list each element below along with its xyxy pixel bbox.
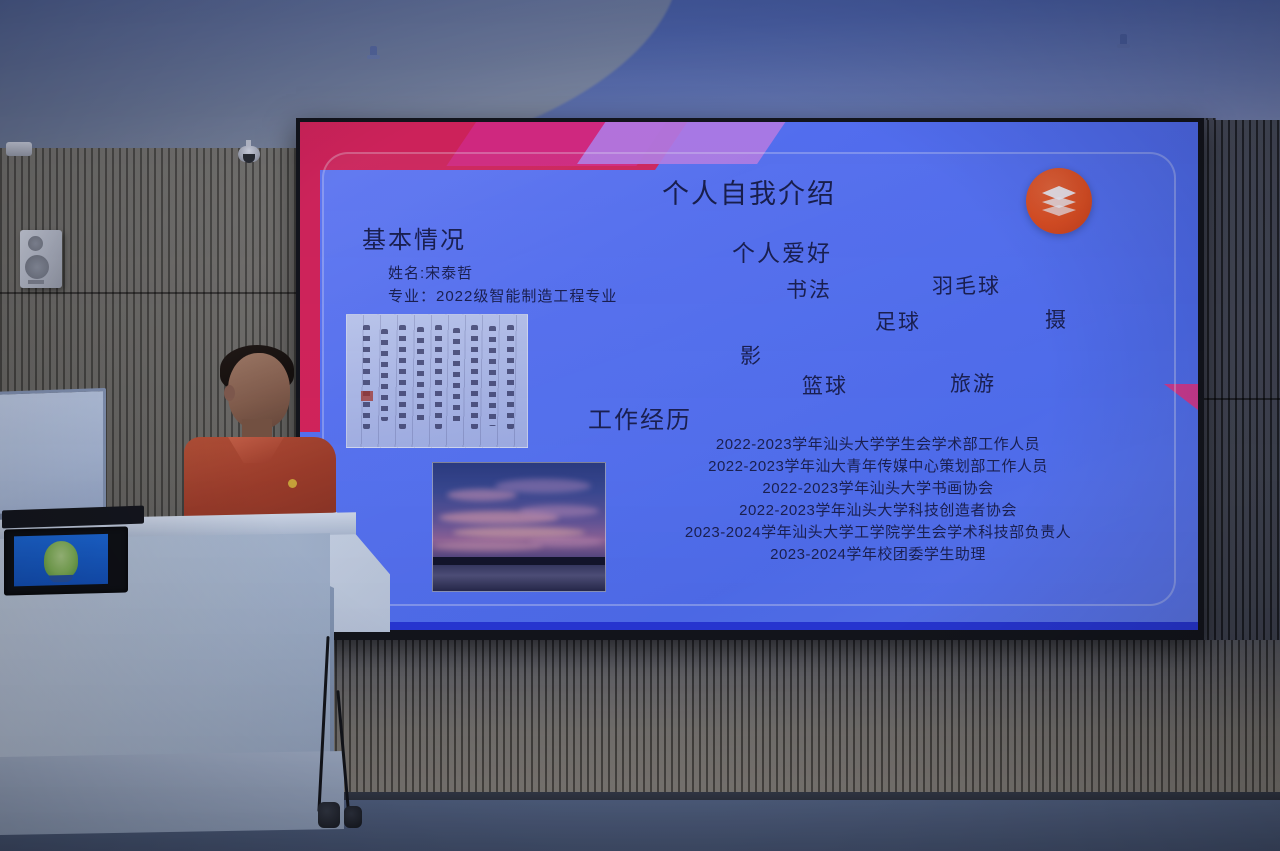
stacked-layers-logo-icon (1026, 168, 1092, 234)
work-item: 2022-2023学年汕大青年传媒中心策划部工作人员 (618, 456, 1138, 478)
water-reflection (433, 565, 605, 591)
work-item: 2023-2024学年汕头大学工学院学生会学术科技部负责人 (618, 522, 1138, 544)
calligraphy-seal (361, 391, 373, 401)
wall-speaker-icon (20, 230, 62, 288)
presentation-slide: 个人自我介绍 基本情况 姓名:宋泰哲 专业：2022级智能制造工程专业 个人爱好… (300, 122, 1198, 622)
section-heading-basic: 基本情况 (362, 220, 466, 255)
work-item: 2022-2023学年汕头大学学生会学术部工作人员 (618, 434, 1138, 456)
lectern (0, 516, 392, 816)
projection-screen: 个人自我介绍 基本情况 姓名:宋泰哲 专业：2022级智能制造工程专业 个人爱好… (300, 122, 1198, 630)
speaker-tweeter (28, 236, 43, 251)
projection-screen-frame: 个人自我介绍 基本情况 姓名:宋泰哲 专业：2022级智能制造工程专业 个人爱好… (296, 118, 1204, 640)
speaker-woofer (25, 255, 49, 279)
sprinkler-icon (370, 46, 377, 58)
hobby-item: 影 (740, 340, 763, 370)
sunset-sky-photo (432, 462, 606, 592)
wall-camera-icon (6, 142, 32, 156)
emblem-screen (14, 534, 108, 586)
calligraphy-photo (346, 314, 528, 448)
hobby-item: 篮球 (802, 370, 848, 400)
speaker-label (28, 280, 44, 284)
basic-name: 姓名:宋泰哲 (388, 262, 473, 283)
work-item: 2022-2023学年汕头大学书画协会 (618, 478, 1138, 500)
hobby-item: 足球 (875, 306, 921, 336)
work-experience-list: 2022-2023学年汕头大学学生会学术部工作人员 2022-2023学年汕大青… (618, 434, 1138, 566)
basic-major: 专业：2022级智能制造工程专业 (388, 285, 617, 306)
hobby-item: 摄 (1045, 304, 1068, 334)
presenter-head (228, 353, 290, 429)
wall-seam-left (0, 292, 300, 294)
hobby-item: 羽毛球 (932, 270, 1001, 300)
shirt-pin-icon (288, 479, 297, 488)
hobby-item: 旅游 (950, 368, 996, 398)
section-heading-hobbies: 个人爱好 (732, 234, 832, 268)
slat-wall-lower (300, 640, 1280, 810)
caster-wheel-2 (344, 806, 362, 828)
dome-camera-icon (238, 146, 260, 162)
work-item: 2023-2024学年校团委学生助理 (618, 544, 1138, 566)
hobby-item: 书法 (786, 274, 832, 304)
lectern-base (0, 751, 344, 835)
presenter-ear (224, 385, 235, 401)
sprinkler-icon-2 (1120, 34, 1127, 47)
caster-wheel (318, 802, 340, 828)
section-heading-work: 工作经历 (588, 400, 692, 435)
university-emblem-icon (44, 541, 78, 580)
lectern-control-screen[interactable] (4, 526, 128, 595)
lecture-hall-photo: 个人自我介绍 基本情况 姓名:宋泰哲 专业：2022级智能制造工程专业 个人爱好… (0, 0, 1280, 851)
work-item: 2022-2023学年汕头大学科技创造者协会 (618, 500, 1138, 522)
